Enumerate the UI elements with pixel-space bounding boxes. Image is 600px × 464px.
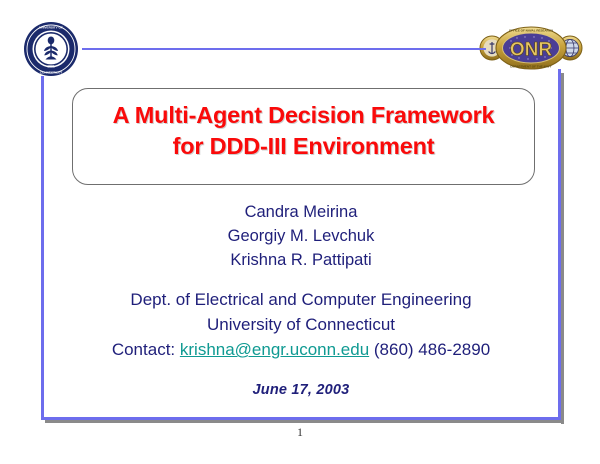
contact-label: Contact: [112, 340, 175, 359]
author-name: Georgiy M. Levchuk [44, 224, 558, 248]
svg-text:UNIVERSITY OF: UNIVERSITY OF [39, 26, 63, 30]
svg-text:1881: 1881 [47, 65, 55, 69]
university-of-connecticut-seal-icon: UNIVERSITY OF CONNECTICUT 1881 [23, 21, 79, 77]
author-list: Candra Meirina Georgiy M. Levchuk Krishn… [44, 200, 558, 272]
svg-text:CONNECTICUT: CONNECTICUT [40, 70, 63, 74]
contact-line: Contact: krishna@engr.uconn.edu (860) 48… [44, 337, 558, 362]
frame-right-edge [558, 69, 561, 420]
frame-bottom-edge [41, 417, 561, 420]
presentation-slide: UNIVERSITY OF CONNECTICUT 1881 [0, 0, 600, 464]
contact-phone: (860) 486-2890 [374, 340, 490, 359]
author-name: Candra Meirina [44, 200, 558, 224]
department-line: Dept. of Electrical and Computer Enginee… [44, 287, 558, 312]
page-title: A Multi-Agent Decision Framework for DDD… [72, 100, 535, 162]
office-of-naval-research-logo-icon: ONR OFFICE OF NAVAL RESEARCH DEPARTMENT … [479, 21, 583, 75]
frame-right-shadow [561, 73, 564, 424]
header-divider-rule [82, 48, 486, 50]
frame-bottom-shadow [45, 420, 564, 423]
affiliation-block: Dept. of Electrical and Computer Enginee… [44, 287, 558, 362]
page-number: 1 [0, 425, 600, 440]
university-line: University of Connecticut [44, 312, 558, 337]
svg-text:ONR: ONR [510, 40, 553, 61]
svg-text:OFFICE OF NAVAL RESEARCH: OFFICE OF NAVAL RESEARCH [509, 29, 553, 33]
contact-email-link[interactable]: krishna@engr.uconn.edu [180, 340, 369, 359]
presentation-date: June 17, 2003 [44, 380, 558, 400]
title-line-1: A Multi-Agent Decision Framework [72, 100, 535, 131]
author-name: Krishna R. Pattipati [44, 248, 558, 272]
title-line-2: for DDD-III Environment [72, 131, 535, 162]
svg-text:DEPARTMENT OF THE NAVY: DEPARTMENT OF THE NAVY [510, 64, 551, 68]
